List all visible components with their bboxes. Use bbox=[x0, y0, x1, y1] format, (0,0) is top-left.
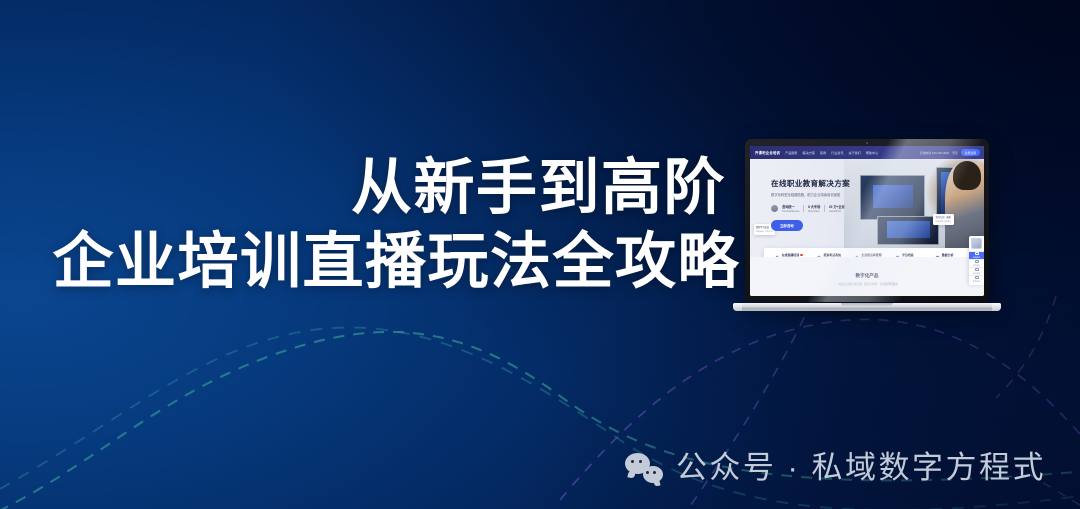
hero-copy: 在线职业教育解决方案 数字化转型全链路陪跑，助力企业持续增长赋能 咨询统一 On… bbox=[771, 178, 902, 233]
feature-card[interactable]: 在线直播培训 课程直播 · 互动答疑 bbox=[775, 253, 803, 257]
side-item-phone[interactable]: 电话咨询 bbox=[969, 267, 984, 275]
nav-item-5[interactable]: 帮助中心 bbox=[866, 150, 878, 155]
feature-card-title: 在线直播培训 bbox=[782, 253, 799, 257]
laptop-lid: 开课吧企业培训 产品服务 解决方案 案例 行业资讯 关于我们 帮助中心 咨询热线… bbox=[745, 139, 989, 302]
phone-icon bbox=[975, 268, 979, 271]
nav-item-4[interactable]: 关于我们 bbox=[848, 150, 860, 155]
webcam-icon bbox=[866, 142, 868, 144]
hero-stat-2: 20 万+企业 UseWithUs bbox=[829, 204, 845, 213]
feature-card[interactable]: 企业知识库管理 资料 · 沉淀 · 复用 bbox=[854, 253, 881, 257]
feature-icon bbox=[817, 255, 822, 258]
feature-icon bbox=[854, 255, 859, 258]
feature-card-title: 数据分析 bbox=[942, 253, 959, 257]
feature-card[interactable]: 培训考试系统 题库 · 在线考试 bbox=[817, 253, 841, 257]
hero-stat-1-sub: MoreClass bbox=[808, 210, 820, 213]
hero-stat-2-title: 20 万+企业 bbox=[829, 204, 845, 209]
side-item-label: 回到顶部 bbox=[973, 280, 980, 283]
side-item-chat[interactable]: 在线咨询 bbox=[969, 251, 984, 259]
nav-phone[interactable]: 咨询热线 400-000-0000 bbox=[920, 151, 949, 155]
hero-person-hair bbox=[953, 161, 981, 190]
hero-bubble-1-title: 实时互动 · 直播 bbox=[936, 215, 952, 219]
side-item-label: 在线咨询 bbox=[973, 256, 980, 259]
avatar[interactable] bbox=[971, 238, 982, 249]
hero-stat-2-sub: UseWithUs bbox=[829, 210, 845, 213]
feature-icon bbox=[895, 255, 900, 258]
hero-stats: 咨询统一 OneStopService 8 大专场 MoreClass 20 万… bbox=[771, 204, 902, 213]
site-navbar: 开课吧企业培训 产品服务 解决方案 案例 行业资讯 关于我们 帮助中心 咨询热线… bbox=[750, 146, 984, 159]
feature-card-title: 学员档案 bbox=[902, 253, 921, 257]
side-item-label: 电话咨询 bbox=[973, 272, 980, 275]
watermark-text: 公众号 · 私域数字方程式 bbox=[676, 452, 1046, 483]
products-subtitle: 一站式企业数字化培训 · 覆盖全场景 · 全流程闭环服务 bbox=[750, 282, 984, 286]
base-edge-left bbox=[733, 303, 742, 311]
feature-card-strip: 在线直播培训 课程直播 · 互动答疑 培训考试系统 题库 · 在线考试 bbox=[764, 248, 970, 257]
wechat-dot bbox=[631, 460, 634, 463]
divider bbox=[824, 205, 825, 212]
base-notch bbox=[841, 303, 893, 306]
nav-item-0[interactable]: 产品服务 bbox=[785, 150, 797, 155]
calendar-icon bbox=[975, 260, 979, 263]
laptop-screen: 开课吧企业培训 产品服务 解决方案 案例 行业资讯 关于我们 帮助中心 咨询热线… bbox=[750, 146, 984, 296]
wechat-icon bbox=[625, 453, 663, 483]
laptop-shadow bbox=[741, 310, 993, 317]
navbar-right-group: 咨询热线 400-000-0000 登录 免费试用 bbox=[920, 149, 980, 156]
products-title: 数字化产品 bbox=[750, 273, 984, 279]
nav-item-1[interactable]: 解决方案 bbox=[803, 150, 815, 155]
divider bbox=[803, 205, 804, 212]
site-logo[interactable]: 开课吧企业培训 bbox=[755, 150, 780, 155]
wechat-dot bbox=[653, 471, 656, 474]
headline-line-2: 企业培训直播玩法全攻略 bbox=[0, 224, 742, 298]
feature-card[interactable]: 数据分析 培训效果 · 可视化 bbox=[935, 253, 959, 257]
watermark: 公众号 · 私域数字方程式 bbox=[625, 452, 1046, 483]
laptop-mockup: 开课吧企业培训 产品服务 解决方案 案例 行业资讯 关于我们 帮助中心 咨询热线… bbox=[733, 139, 1001, 319]
side-item-label: 预约演示 bbox=[973, 264, 980, 267]
feature-card-title: 企业知识库管理 bbox=[861, 253, 881, 257]
poster-canvas: 从新手到高阶 企业培训直播玩法全攻略 开课吧企业培训 产品服务 解决方案 案例 … bbox=[0, 0, 1080, 509]
hero-bubble-1-sub: 在线答疑 同屏演示 bbox=[936, 220, 952, 223]
laptop-base bbox=[733, 303, 1001, 311]
nav-login[interactable]: 登录 bbox=[952, 151, 958, 155]
hero-title: 在线职业教育解决方案 bbox=[771, 178, 902, 189]
nav-item-2[interactable]: 案例 bbox=[820, 150, 826, 155]
nav-trial-button[interactable]: 免费试用 bbox=[961, 149, 980, 156]
side-item-top[interactable]: 回到顶部 bbox=[969, 275, 984, 283]
hot-badge-icon bbox=[800, 254, 803, 257]
base-edge-right bbox=[992, 303, 1001, 311]
page-title: 从新手到高阶 企业培训直播玩法全攻略 bbox=[0, 150, 742, 298]
feature-card[interactable]: 学员档案 成长路径 · 档案管理 bbox=[895, 253, 921, 257]
headline-line-1: 从新手到高阶 bbox=[0, 150, 742, 224]
feature-icon bbox=[935, 255, 940, 258]
site-side-panel: 在线咨询 预约演示 电话咨询 回到顶部 bbox=[969, 236, 984, 285]
site-nav-menu: 产品服务 解决方案 案例 行业资讯 关于我们 帮助中心 bbox=[785, 150, 915, 155]
hero-cta-button[interactable]: 立即咨询 bbox=[771, 220, 803, 231]
site-hero: 实时互动 · 直播 在线答疑 同屏演示 课程学习进度 数据看板 · 实时分析 在… bbox=[750, 159, 984, 257]
side-item-demo[interactable]: 预约演示 bbox=[969, 259, 984, 267]
avatar bbox=[771, 205, 778, 212]
hero-stat-1: 8 大专场 MoreClass bbox=[808, 204, 820, 213]
hero-stat-0: 咨询统一 OneStopService bbox=[782, 204, 799, 213]
hero-stat-0-title: 咨询统一 bbox=[782, 204, 799, 209]
hero-stat-1-title: 8 大专场 bbox=[808, 204, 820, 209]
hero-bubble-1: 实时互动 · 直播 在线答疑 同屏演示 bbox=[933, 214, 953, 225]
wechat-dot bbox=[646, 471, 649, 474]
feature-card-title: 培训考试系统 bbox=[824, 253, 841, 257]
hero-subtitle: 数字化转型全链路陪跑，助力企业持续增长赋能 bbox=[771, 192, 902, 197]
wechat-bubble-small bbox=[643, 466, 663, 483]
arrow-up-icon bbox=[975, 276, 979, 279]
products-section: 数字化产品 一站式企业数字化培训 · 覆盖全场景 · 全流程闭环服务 bbox=[750, 257, 984, 296]
hero-stat-0-sub: OneStopService bbox=[782, 210, 799, 213]
wechat-dot bbox=[639, 460, 642, 463]
nav-item-3[interactable]: 行业资讯 bbox=[831, 150, 843, 155]
feature-icon bbox=[775, 255, 780, 258]
chat-icon bbox=[975, 252, 979, 255]
